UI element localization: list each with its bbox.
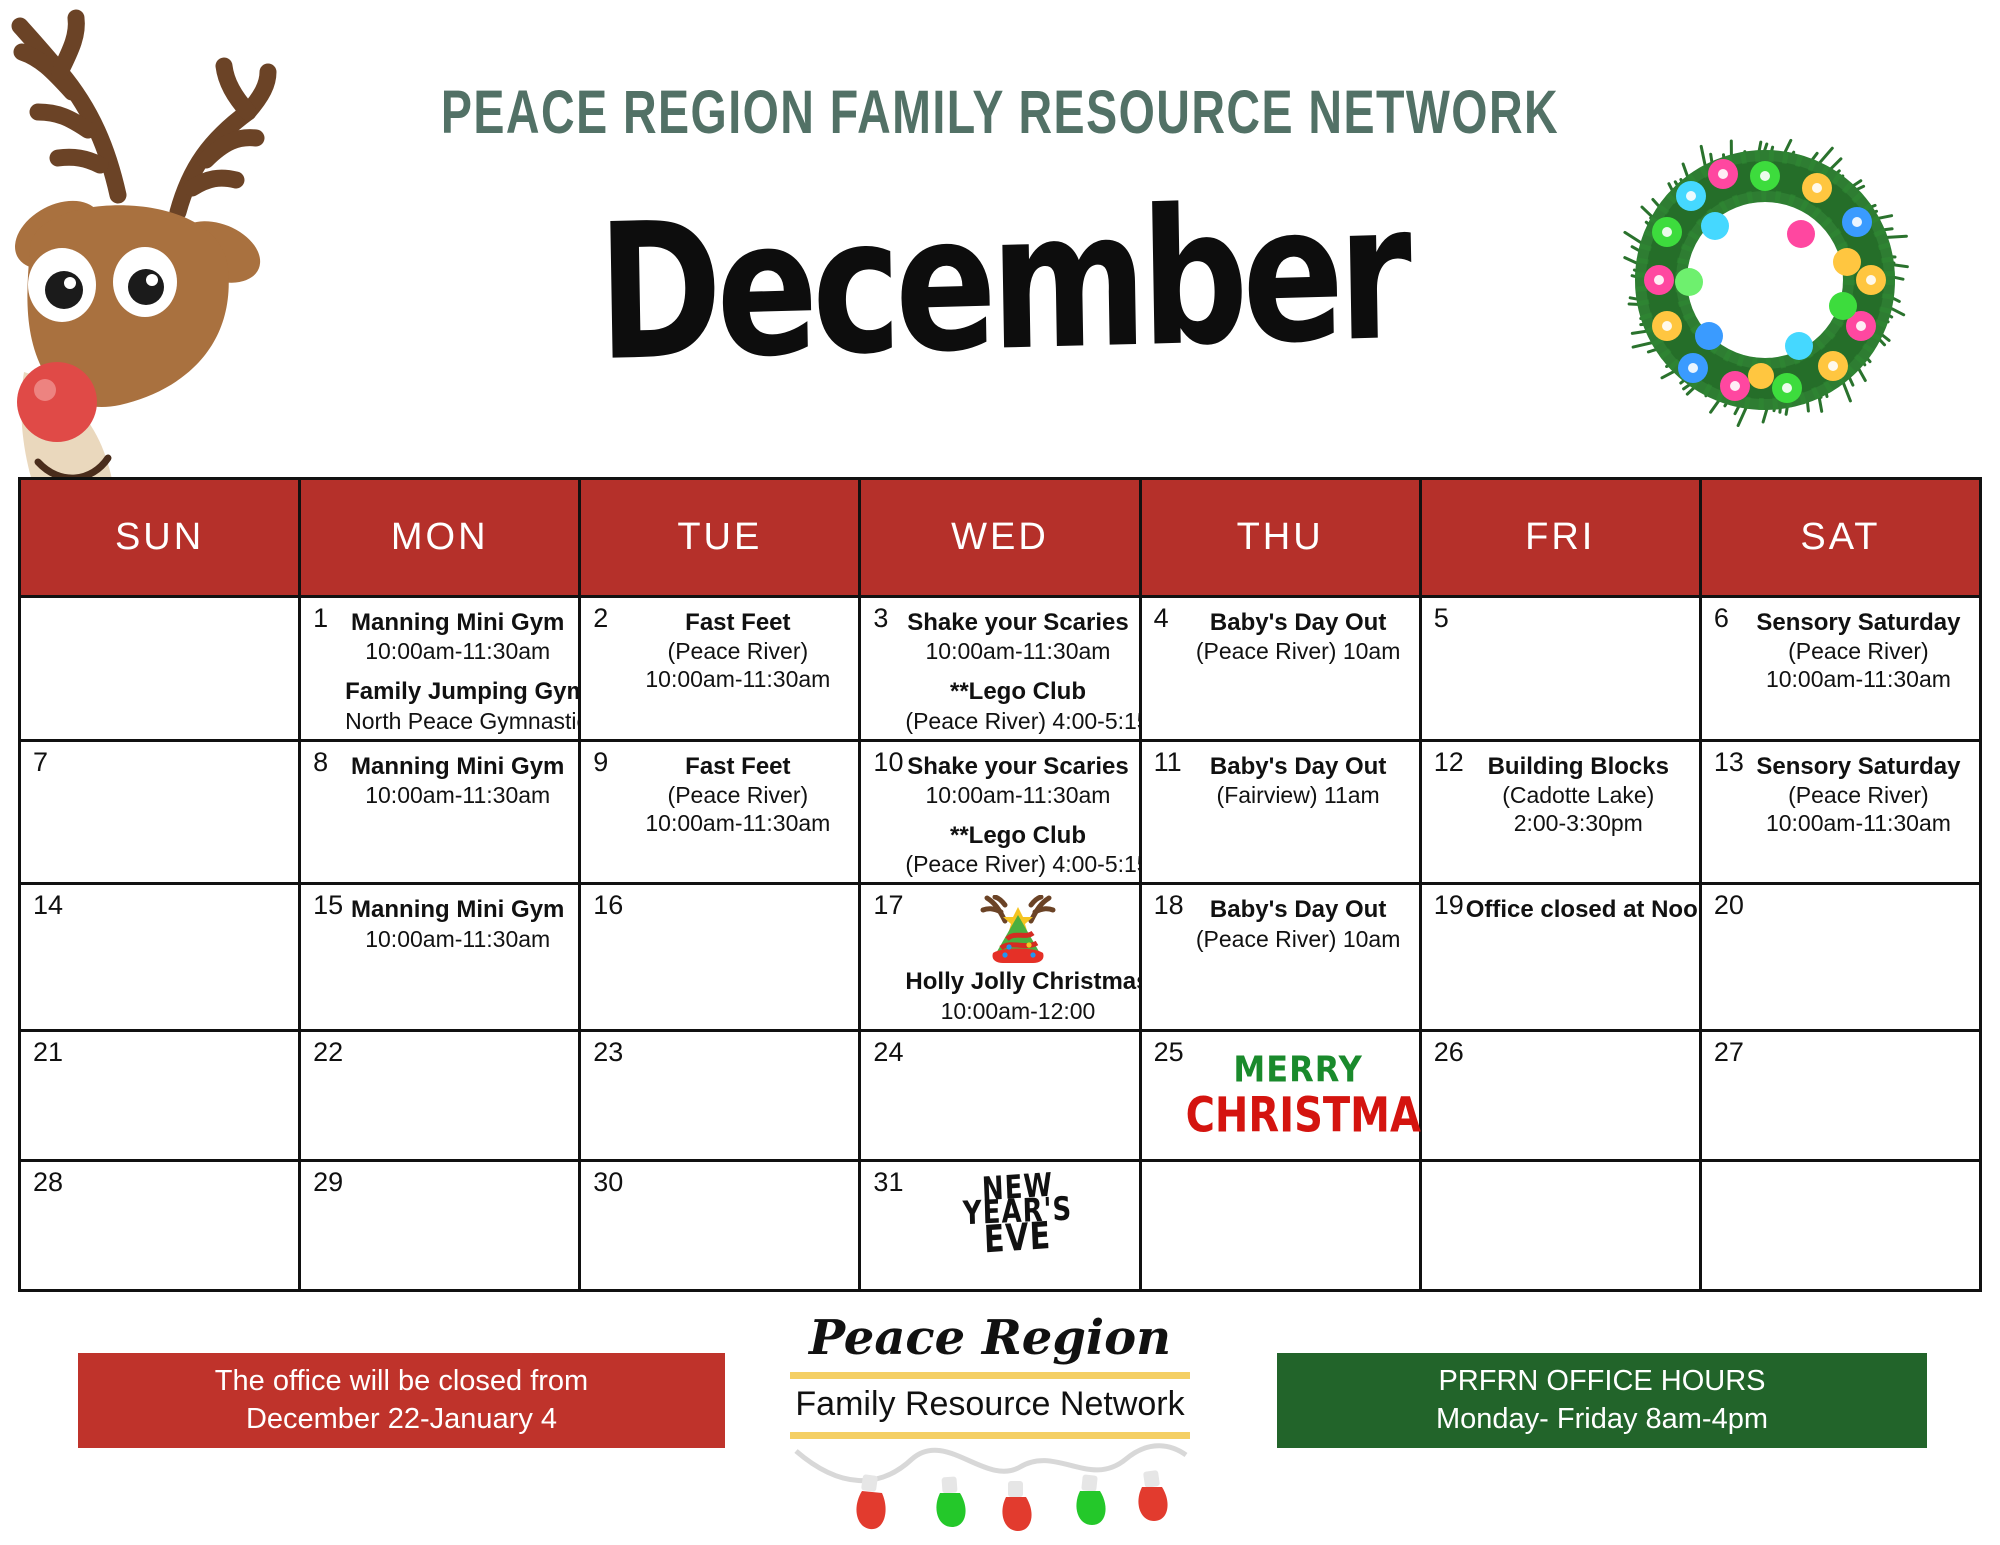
day-cell-content — [21, 742, 298, 756]
calendar-day-cell-13[interactable]: 13Sensory Saturday(Peace River)10:00am-1… — [1700, 740, 1980, 884]
day-number: 15 — [313, 892, 343, 919]
calendar-day-cell-22[interactable]: 22 — [300, 1030, 580, 1160]
event-title: Sensory Saturday — [1746, 752, 1971, 781]
merry-christmas-graphic: MERRYCHRISTMAS — [1186, 1042, 1411, 1141]
event-title: Office closed at Noon — [1466, 895, 1691, 924]
day-number: 1 — [313, 605, 328, 632]
day-number: 21 — [33, 1039, 63, 1066]
calendar-day-cell-empty[interactable] — [1420, 1160, 1700, 1290]
event-detail: (Peace River) — [625, 637, 850, 665]
calendar-day-cell-25[interactable]: 25MERRYCHRISTMAS — [1140, 1030, 1420, 1160]
calendar-day-cell-23[interactable]: 23 — [580, 1030, 860, 1160]
calendar-day-cell-12[interactable]: 12Building Blocks(Cadotte Lake)2:00-3:30… — [1420, 740, 1700, 884]
day-number: 29 — [313, 1169, 343, 1196]
day-number: 19 — [1434, 892, 1464, 919]
calendar-day-cell-18[interactable]: 18Baby's Day Out(Peace River) 10am — [1140, 884, 1420, 1030]
event-detail: (Peace River) — [1746, 781, 1971, 809]
event-detail: 10:00am-11:30am — [345, 637, 570, 665]
event-detail: 2:00-3:30pm — [1466, 809, 1691, 837]
day-cell-content: Baby's Day Out(Fairview) 11am — [1142, 742, 1419, 813]
office-hours-banner: PRFRN OFFICE HOURS Monday- Friday 8am-4p… — [1277, 1353, 1927, 1448]
weekday-header-tue: TUE — [580, 479, 860, 597]
event-spacer — [905, 809, 1130, 821]
event-title: **Lego Club — [905, 821, 1130, 850]
string-lights-icon — [790, 1441, 1190, 1533]
logo-divider-top — [790, 1372, 1190, 1379]
day-cell-content: Shake your Scaries10:00am-11:30am**Lego … — [861, 598, 1138, 739]
day-cell-content — [1142, 1162, 1419, 1176]
calendar-day-cell-5[interactable]: 5 — [1420, 597, 1700, 741]
event-detail: (Peace River) 10am — [1186, 925, 1411, 953]
day-cell-content — [21, 598, 298, 612]
office-closure-banner: The office will be closed from December … — [78, 1353, 725, 1448]
event-spacer — [905, 665, 1130, 677]
day-cell-content: Fast Feet(Peace River)10:00am-11:30am — [581, 598, 858, 697]
day-number: 13 — [1714, 749, 1744, 776]
day-number: 30 — [593, 1169, 623, 1196]
event-detail: 10:00am-11:30am — [1746, 665, 1971, 693]
event-title: Fast Feet — [625, 752, 850, 781]
christmas-wreath-icon — [1595, 130, 1935, 430]
event-title: Shake your Scaries — [905, 752, 1130, 781]
calendar-day-cell-31[interactable]: 31NEWYEAR'SEVE — [860, 1160, 1140, 1290]
new-years-eve-graphic: NEWYEAR'SEVE — [905, 1172, 1130, 1254]
calendar-week-row: 78Manning Mini Gym10:00am-11:30am9Fast F… — [20, 740, 1981, 884]
event-detail: 10:00am-11:30am — [625, 809, 850, 837]
calendar-week-row: 1415Manning Mini Gym10:00am-11:30am1617 … — [20, 884, 1981, 1030]
event-title: Baby's Day Out — [1186, 752, 1411, 781]
calendar-day-cell-empty[interactable] — [20, 597, 300, 741]
calendar-day-cell-6[interactable]: 6Sensory Saturday(Peace River)10:00am-11… — [1700, 597, 1980, 741]
event-spacer — [345, 665, 570, 677]
page-footer: The office will be closed from December … — [0, 1300, 2000, 1545]
day-cell-content: Baby's Day Out(Peace River) 10am — [1142, 598, 1419, 669]
event-title: **Lego Club — [905, 677, 1130, 706]
day-cell-content: Manning Mini Gym10:00am-11:30amFamily Ju… — [301, 598, 578, 739]
calendar-day-cell-26[interactable]: 26 — [1420, 1030, 1700, 1160]
event-title: Fast Feet — [625, 608, 850, 637]
calendar-day-cell-3[interactable]: 3Shake your Scaries10:00am-11:30am**Lego… — [860, 597, 1140, 741]
day-number: 16 — [593, 892, 623, 919]
calendar-day-cell-2[interactable]: 2Fast Feet(Peace River)10:00am-11:30am — [580, 597, 860, 741]
event-title: Manning Mini Gym — [345, 608, 570, 637]
page-header: PEACE REGION FAMILY RESOURCE NETWORK Dec… — [0, 0, 2000, 470]
event-detail: North Peace Gymnastics 5-7 — [345, 707, 570, 735]
weekday-header-sat: SAT — [1700, 479, 1980, 597]
event-title: Holly Jolly Christmas Pary — [905, 967, 1130, 996]
christmas-tree-hat-icon — [975, 895, 1061, 965]
christmas-text: CHRISTMAS — [1186, 1087, 1411, 1146]
weekday-header-fri: FRI — [1420, 479, 1700, 597]
event-detail: 10:00am-11:30am — [905, 637, 1130, 665]
calendar-day-cell-29[interactable]: 29 — [300, 1160, 580, 1290]
hours-line-2: Monday- Friday 8am-4pm — [1436, 1401, 1768, 1438]
calendar-day-cell-4[interactable]: 4Baby's Day Out(Peace River) 10am — [1140, 597, 1420, 741]
day-number: 23 — [593, 1039, 623, 1066]
event-title: Manning Mini Gym — [345, 752, 570, 781]
event-detail: (Cadotte Lake) — [1466, 781, 1691, 809]
calendar-day-cell-21[interactable]: 21 — [20, 1030, 300, 1160]
weekday-header-wed: WED — [860, 479, 1140, 597]
prfrn-logo: Peace Region Family Resource Network — [790, 1310, 1190, 1538]
calendar-day-cell-8[interactable]: 8Manning Mini Gym10:00am-11:30am — [300, 740, 580, 884]
event-title: Family Jumping Gym Night — [345, 677, 570, 706]
calendar-day-cell-30[interactable]: 30 — [580, 1160, 860, 1290]
day-number: 5 — [1434, 605, 1449, 632]
weekday-header-sun: SUN — [20, 479, 300, 597]
day-cell-content: Sensory Saturday(Peace River)10:00am-11:… — [1702, 598, 1979, 697]
weekday-header-thu: THU — [1140, 479, 1420, 597]
calendar-day-cell-27[interactable]: 27 — [1700, 1030, 1980, 1160]
day-number: 12 — [1434, 749, 1464, 776]
event-detail: (Peace River) — [625, 781, 850, 809]
logo-divider-bottom — [790, 1432, 1190, 1439]
day-number: 28 — [33, 1169, 63, 1196]
day-number: 24 — [873, 1039, 903, 1066]
calendar-day-cell-19[interactable]: 19Office closed at Noon — [1420, 884, 1700, 1030]
calendar-body: 1Manning Mini Gym10:00am-11:30amFamily J… — [20, 597, 1981, 1291]
weekday-header-mon: MON — [300, 479, 580, 597]
calendar-day-cell-7[interactable]: 7 — [20, 740, 300, 884]
event-title: Sensory Saturday — [1746, 608, 1971, 637]
event-title: Shake your Scaries — [905, 608, 1130, 637]
calendar-day-cell-17[interactable]: 17 Holly Jolly Christmas Pary10:00am-12:… — [860, 884, 1140, 1030]
calendar-week-row: 28293031NEWYEAR'SEVE — [20, 1160, 1981, 1290]
calendar-day-cell-15[interactable]: 15Manning Mini Gym10:00am-11:30am — [300, 884, 580, 1030]
calendar-day-cell-empty[interactable] — [1140, 1160, 1420, 1290]
event-title: Baby's Day Out — [1186, 895, 1411, 924]
event-title: Building Blocks — [1466, 752, 1691, 781]
event-detail: 10:00am-11:30am — [345, 781, 570, 809]
day-number: 20 — [1714, 892, 1744, 919]
event-detail: (Fairview) 11am — [1186, 781, 1411, 809]
calendar-day-cell-11[interactable]: 11Baby's Day Out(Fairview) 11am — [1140, 740, 1420, 884]
closure-line-2: December 22-January 4 — [246, 1401, 557, 1438]
event-detail: 10:00am-11:30am — [1746, 809, 1971, 837]
logo-script-text: Peace Region — [790, 1310, 1190, 1366]
event-detail: (Peace River) 10am — [1186, 637, 1411, 665]
day-number: 17 — [873, 892, 903, 919]
event-detail: 10:00am-11:30am — [905, 781, 1130, 809]
day-number: 14 — [33, 892, 63, 919]
day-cell-content: Manning Mini Gym10:00am-11:30am — [301, 742, 578, 813]
calendar-day-cell-16[interactable]: 16 — [580, 884, 860, 1030]
calendar-day-cell-24[interactable]: 24 — [860, 1030, 1140, 1160]
event-detail: (Peace River) — [1746, 637, 1971, 665]
event-title: Baby's Day Out — [1186, 608, 1411, 637]
calendar-day-cell-20[interactable]: 20 — [1700, 884, 1980, 1030]
calendar-day-cell-empty[interactable] — [1700, 1160, 1980, 1290]
day-number: 22 — [313, 1039, 343, 1066]
day-number: 25 — [1154, 1039, 1184, 1066]
day-number: 4 — [1154, 605, 1169, 632]
day-number: 31 — [873, 1169, 903, 1196]
day-number: 18 — [1154, 892, 1184, 919]
day-number: 7 — [33, 749, 48, 776]
calendar-table: SUN MON TUE WED THU FRI SAT 1Manning Min… — [18, 477, 1982, 1292]
day-cell-content — [1702, 1162, 1979, 1176]
logo-subtitle: Family Resource Network — [790, 1383, 1190, 1428]
day-number: 10 — [873, 749, 903, 776]
closure-line-1: The office will be closed from — [215, 1363, 588, 1400]
event-detail: (Peace River) 4:00-5:15pm — [905, 707, 1130, 735]
day-number: 3 — [873, 605, 888, 632]
event-title: Manning Mini Gym — [345, 895, 570, 924]
day-number: 8 — [313, 749, 328, 776]
day-number: 26 — [1434, 1039, 1464, 1066]
day-number: 9 — [593, 749, 608, 776]
calendar-day-cell-10[interactable]: 10Shake your Scaries10:00am-11:30am**Leg… — [860, 740, 1140, 884]
calendar-day-cell-1[interactable]: 1Manning Mini Gym10:00am-11:30amFamily J… — [300, 597, 580, 741]
calendar-week-row: 2122232425MERRYCHRISTMAS2627 — [20, 1030, 1981, 1160]
calendar-day-cell-9[interactable]: 9Fast Feet(Peace River)10:00am-11:30am — [580, 740, 860, 884]
event-detail: 10:00am-11:30am — [345, 925, 570, 953]
calendar-day-cell-14[interactable]: 14 — [20, 884, 300, 1030]
calendar-header-row: SUN MON TUE WED THU FRI SAT — [20, 479, 1981, 597]
day-number: 6 — [1714, 605, 1729, 632]
calendar-week-row: 1Manning Mini Gym10:00am-11:30amFamily J… — [20, 597, 1981, 741]
day-cell-content — [1422, 598, 1699, 612]
day-cell-content: Fast Feet(Peace River)10:00am-11:30am — [581, 742, 858, 841]
day-number: 11 — [1154, 749, 1182, 776]
event-detail: 10:00am-12:00 — [905, 997, 1130, 1025]
calendar-day-cell-28[interactable]: 28 — [20, 1160, 300, 1290]
event-detail: 10:00am-11:30am — [625, 665, 850, 693]
day-cell-content — [1422, 1162, 1699, 1176]
day-number: 27 — [1714, 1039, 1744, 1066]
event-detail: (Peace River) 4:00-5:15pm — [905, 850, 1130, 878]
merry-text: MERRY — [1186, 1047, 1411, 1091]
hours-line-1: PRFRN OFFICE HOURS — [1438, 1363, 1765, 1400]
day-number: 2 — [593, 605, 608, 632]
